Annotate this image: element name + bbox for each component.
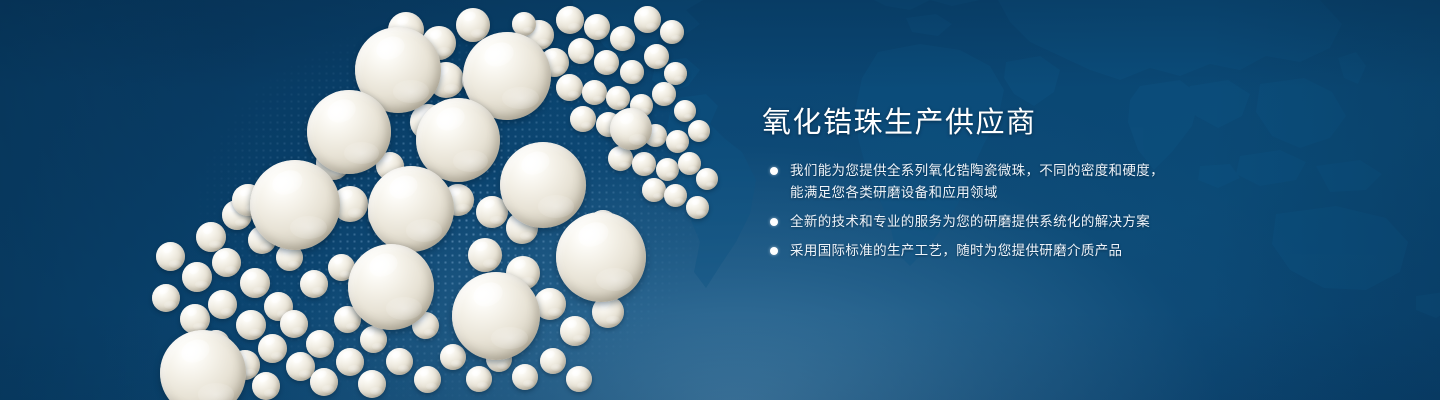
hero-banner: 氧化锆珠生产供应商 我们能为您提供全系列氧化锆陶瓷微珠，不同的密度和硬度， 能满… <box>0 0 1440 400</box>
banner-copy: 氧化锆珠生产供应商 我们能为您提供全系列氧化锆陶瓷微珠，不同的密度和硬度， 能满… <box>762 104 1232 262</box>
list-item: 我们能为您提供全系列氧化锆陶瓷微珠，不同的密度和硬度， 能满足您各类研磨设备和应… <box>762 160 1232 204</box>
bullet-line: 全新的技术和专业的服务为您的研磨提供系统化的解决方案 <box>790 211 1232 233</box>
bullet-line: 我们能为您提供全系列氧化锆陶瓷微珠，不同的密度和硬度， <box>790 160 1232 182</box>
feature-bullet-list: 我们能为您提供全系列氧化锆陶瓷微珠，不同的密度和硬度， 能满足您各类研磨设备和应… <box>762 160 1232 262</box>
bullet-dot-icon <box>770 167 778 175</box>
bullet-line: 采用国际标准的生产工艺，随时为您提供研磨介质产品 <box>790 240 1232 262</box>
list-item: 采用国际标准的生产工艺，随时为您提供研磨介质产品 <box>762 240 1232 262</box>
bullet-line: 能满足您各类研磨设备和应用领域 <box>790 182 1232 204</box>
page-title: 氧化锆珠生产供应商 <box>762 104 1232 142</box>
bullet-dot-icon <box>770 247 778 255</box>
zirconia-beads-image <box>0 0 720 400</box>
list-item: 全新的技术和专业的服务为您的研磨提供系统化的解决方案 <box>762 211 1232 233</box>
bullet-dot-icon <box>770 218 778 226</box>
